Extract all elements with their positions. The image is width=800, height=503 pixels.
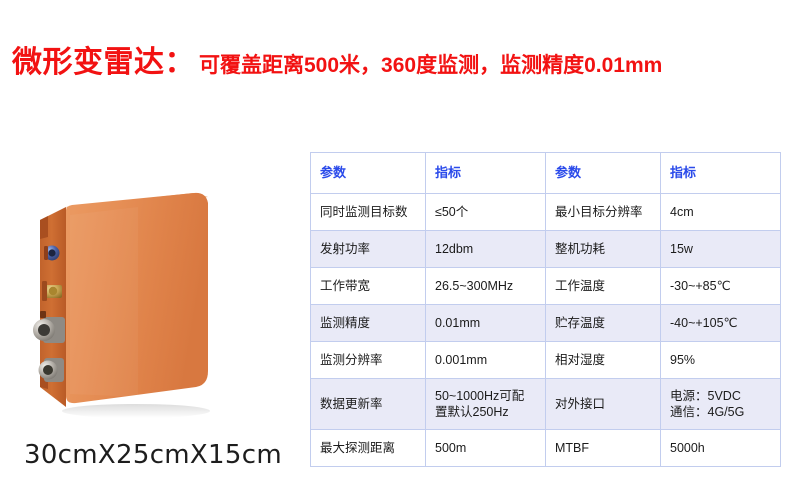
table-cell-param: 相对湿度: [546, 342, 661, 379]
dimension-caption: 30cmX25cmX15cm: [24, 440, 282, 470]
table-cell-value: -40~+105℃: [661, 305, 781, 342]
table-cell-param: 整机功耗: [546, 231, 661, 268]
column-header-value-1: 指标: [426, 153, 546, 194]
table-cell-value: 50~1000Hz可配置默认250Hz: [426, 379, 546, 430]
page-title-main: 微形变雷达：: [12, 48, 195, 78]
table-cell-value: 0.001mm: [426, 342, 546, 379]
table-cell-param: 贮存温度: [546, 305, 661, 342]
device-shadow: [62, 404, 210, 418]
spec-table-container: 参数 指标 参数 指标 同时监测目标数≤50个最小目标分辨率4cm发射功率12d…: [310, 152, 780, 467]
table-cell-value: 95%: [661, 342, 781, 379]
column-header-param-1: 参数: [311, 153, 426, 194]
table-cell-param: MTBF: [546, 430, 661, 467]
page-title: 微形变雷达： 可覆盖距离500米，360度监测，监测精度0.01mm: [12, 48, 662, 78]
table-cell-param: 数据更新率: [311, 379, 426, 430]
table-cell-param: 同时监测目标数: [311, 194, 426, 231]
table-cell-value: 5000h: [661, 430, 781, 467]
column-header-param-2: 参数: [546, 153, 661, 194]
table-cell-value: 4cm: [661, 194, 781, 231]
table-cell-param: 对外接口: [546, 379, 661, 430]
table-cell-param: 工作温度: [546, 268, 661, 305]
table-cell-param: 监测精度: [311, 305, 426, 342]
table-cell-value: 26.5~300MHz: [426, 268, 546, 305]
table-cell-param: 最大探测距离: [311, 430, 426, 467]
table-cell-param: 监测分辨率: [311, 342, 426, 379]
column-header-value-2: 指标: [661, 153, 781, 194]
page-title-subtitle: 可覆盖距离500米，360度监测，监测精度0.01mm: [199, 55, 662, 76]
table-row: 监测分辨率0.001mm相对湿度95%: [311, 342, 781, 379]
table-cell-value: 0.01mm: [426, 305, 546, 342]
table-cell-param: 发射功率: [311, 231, 426, 268]
table-cell-param: 最小目标分辨率: [546, 194, 661, 231]
table-cell-value: 500m: [426, 430, 546, 467]
table-row: 数据更新率50~1000Hz可配置默认250Hz对外接口电源：5VDC 通信：4…: [311, 379, 781, 430]
table-cell-value: 12dbm: [426, 231, 546, 268]
table-cell-value: ≤50个: [426, 194, 546, 231]
spec-table: 参数 指标 参数 指标 同时监测目标数≤50个最小目标分辨率4cm发射功率12d…: [310, 152, 781, 467]
blue-circular-connector: [44, 246, 60, 261]
table-cell-value: 15w: [661, 231, 781, 268]
table-cell-value: -30~+85℃: [661, 268, 781, 305]
table-cell-param: 工作带宽: [311, 268, 426, 305]
spec-table-head: 参数 指标 参数 指标: [311, 153, 781, 194]
table-row: 发射功率12dbm整机功耗15w: [311, 231, 781, 268]
table-row: 同时监测目标数≤50个最小目标分辨率4cm: [311, 194, 781, 231]
table-cell-value: 电源：5VDC 通信：4G/5G: [661, 379, 781, 430]
product-figure: [18, 175, 288, 430]
table-row: 监测精度0.01mm贮存温度-40~+105℃: [311, 305, 781, 342]
table-row: 最大探测距离500mMTBF5000h: [311, 430, 781, 467]
spec-table-body: 同时监测目标数≤50个最小目标分辨率4cm发射功率12dbm整机功耗15w工作带…: [311, 194, 781, 467]
spec-table-header-row: 参数 指标 参数 指标: [311, 153, 781, 194]
table-row: 工作带宽26.5~300MHz工作温度-30~+85℃: [311, 268, 781, 305]
micro-deformation-radar-device-image: [18, 175, 288, 430]
device-face-sheen: [70, 207, 138, 397]
